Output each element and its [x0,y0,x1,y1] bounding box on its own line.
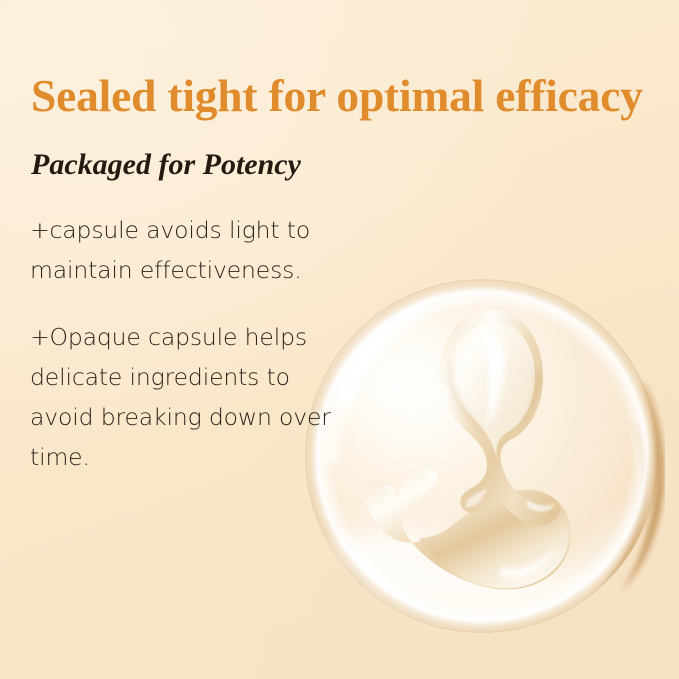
subtitle: Packaged for Potency [31,148,301,183]
glass-sphere [299,276,665,637]
capsule-droplet-sphere-illustration [299,276,665,642]
page-title: Sealed tight for optimal efficacy [31,72,671,120]
infographic-panel: Sealed tight for optimal efficacy Packag… [0,0,679,679]
bullet-item: +Opaque capsule helps delicate ingredien… [30,317,340,477]
bullet-list: +capsule avoids light to maintain effect… [30,210,340,477]
bullet-item: +capsule avoids light to maintain effect… [30,210,340,290]
